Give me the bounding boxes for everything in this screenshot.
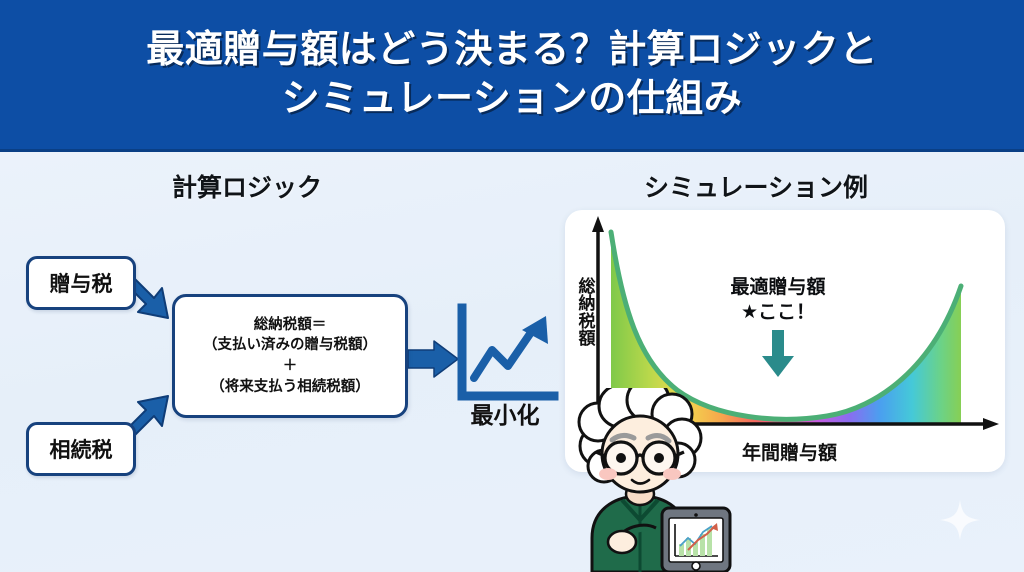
tablet-camera — [694, 513, 698, 517]
header-title-line1: 最適贈与額はどう決まる？計算ロジックと — [146, 26, 878, 75]
minimize-label: 最小化 — [452, 396, 558, 430]
tablet-home-button — [692, 562, 700, 570]
ylabel-char-3: 税 — [576, 313, 598, 330]
annotation-line-1: 最適贈与額 — [692, 276, 864, 301]
simulation-section-title: シミュレーション例 — [644, 168, 868, 204]
gift-tax-box[interactable]: 贈与税 — [26, 256, 136, 310]
character-hand — [608, 531, 636, 553]
tablet-device — [662, 508, 730, 572]
cheek-left — [599, 468, 617, 480]
chart-y-axis-label: 総納税額 — [576, 278, 598, 347]
x-axis-arrow-icon — [983, 418, 999, 430]
down-arrow-icon — [760, 330, 796, 378]
infographic-page: 最適贈与額はどう決まる？計算ロジックと シミュレーションの仕組み 計算ロジック … — [0, 0, 1024, 572]
gift-tax-label: 贈与税 — [50, 268, 113, 298]
cheek-right — [663, 468, 681, 480]
chart-x-axis-label: 年間贈与額 — [742, 438, 837, 465]
header-title-line2: シミュレーションの仕組み — [282, 75, 742, 124]
eye-left — [616, 453, 626, 463]
sparkle-icon — [940, 500, 980, 540]
ylabel-char-4: 額 — [576, 330, 598, 347]
annotation-line-2: ★ここ！ — [692, 301, 864, 326]
formula-line-1: 総納税額＝ — [254, 315, 327, 336]
eye-right — [654, 453, 664, 463]
ylabel-char-2: 納 — [576, 295, 598, 312]
y-axis-arrow-icon — [592, 216, 604, 232]
formula-line-4: （将来支払う相続税額） — [210, 377, 370, 398]
formula-box: 総納税額＝ （支払い済みの贈与税額） ＋ （将来支払う相続税額） — [172, 294, 408, 418]
logic-section-title: 計算ロジック — [172, 168, 322, 204]
formula-line-3: ＋ — [283, 356, 298, 377]
ylabel-char-1: 総 — [576, 278, 598, 295]
formula-line-2: （支払い済みの贈与税額） — [203, 335, 377, 356]
page-header: 最適贈与額はどう決まる？計算ロジックと シミュレーションの仕組み — [0, 0, 1024, 152]
inheritance-tax-label: 相続税 — [50, 434, 113, 464]
elderly-woman-with-tablet — [562, 388, 752, 572]
inheritance-tax-box[interactable]: 相続税 — [26, 422, 136, 476]
optimal-amount-annotation: 最適贈与額 ★ここ！ — [692, 276, 864, 325]
